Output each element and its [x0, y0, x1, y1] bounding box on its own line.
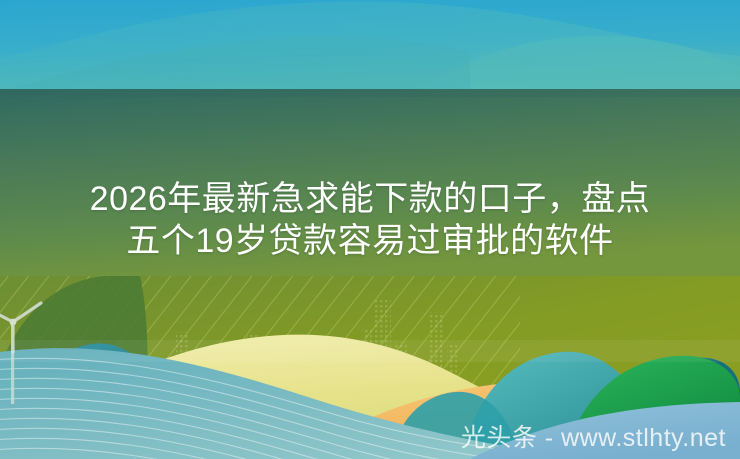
title-background-field: [0, 89, 740, 281]
tonal-band-overlay-lower: [0, 340, 740, 362]
scene-illustration: [0, 0, 740, 459]
poster-canvas: 2026年最新急求能下款的口子，盘点 五个19岁贷款容易过审批的软件 光头条 -…: [0, 0, 740, 459]
tonal-band-overlay: [0, 89, 740, 97]
